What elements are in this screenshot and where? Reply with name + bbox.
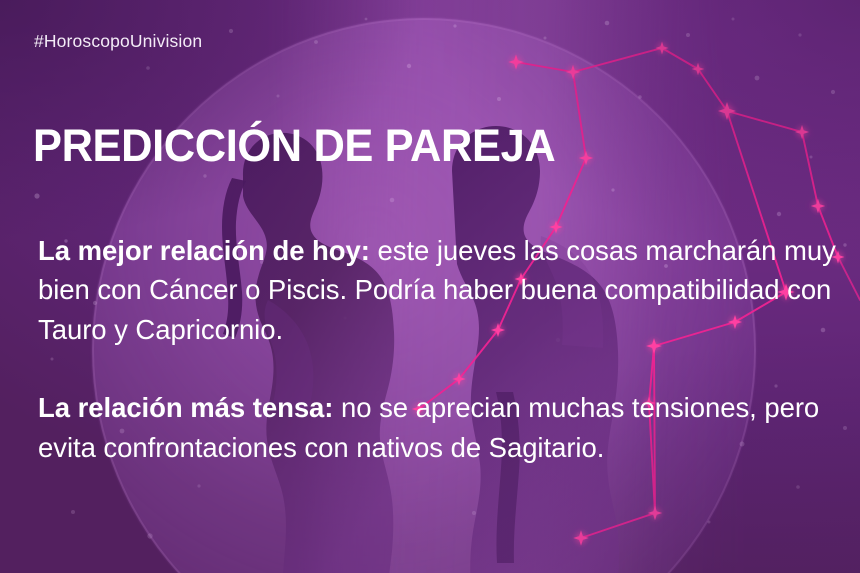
prediction-body: La mejor relación de hoy: este jueves la… — [38, 203, 838, 495]
prediction-lead-tense: La relación más tensa: — [38, 392, 333, 423]
page-title: PREDICCIÓN DE PAREJA — [33, 120, 555, 172]
hashtag-label: #HoroscopoUnivision — [34, 31, 202, 52]
prediction-paragraph-tense: La relación más tensa: no se aprecian mu… — [38, 388, 838, 467]
horoscope-card: #HoroscopoUnivision PREDICCIÓN DE PAREJA… — [0, 0, 860, 573]
prediction-lead-best: La mejor relación de hoy: — [38, 235, 370, 266]
prediction-paragraph-best: La mejor relación de hoy: este jueves la… — [38, 231, 838, 350]
